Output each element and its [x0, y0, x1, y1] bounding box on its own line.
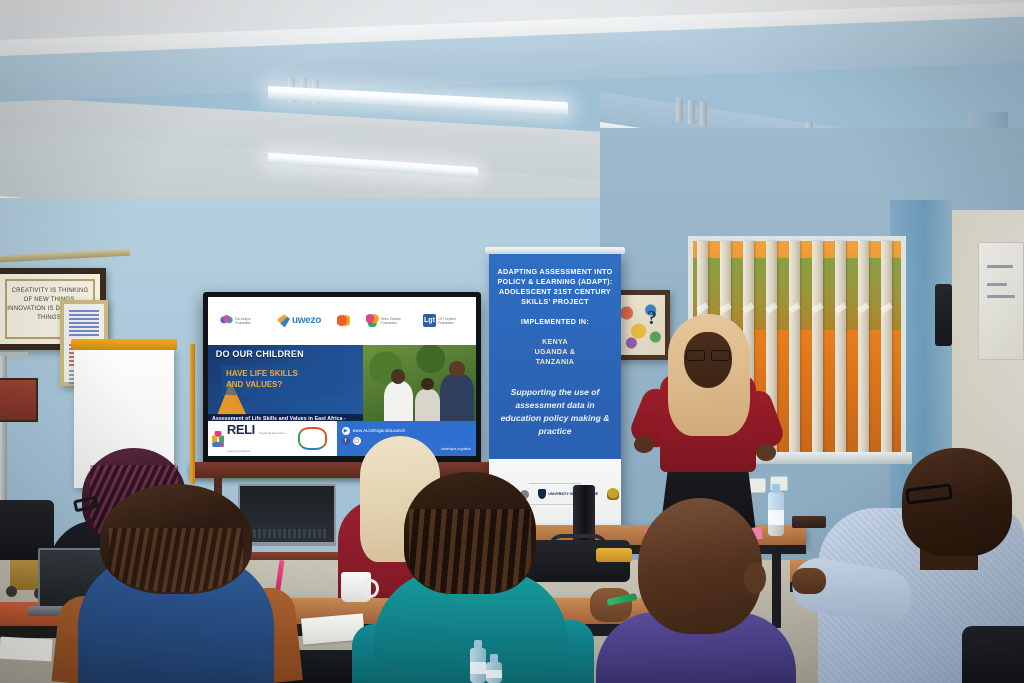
- flipchart-clamp: [71, 339, 177, 350]
- lgt-mark-icon: Lgt: [423, 314, 436, 327]
- social-handle-row: ▶ www.ALiVEUgandaLaunch: [342, 427, 476, 435]
- social-handle: www.ALiVEUgandaLaunch: [353, 428, 405, 433]
- red-board: [0, 378, 38, 422]
- uganda-coat-of-arms-logo: [607, 488, 619, 500]
- instagram-icon: ▢: [353, 437, 361, 445]
- reli-star-icon: [212, 431, 224, 447]
- mhlor-zambia-foundation-logo: Mhlor Zambia Foundation: [366, 314, 407, 327]
- participant-teal-hair: [404, 472, 536, 594]
- wall-notice-sign: [978, 242, 1024, 360]
- light-hanger: [676, 98, 683, 122]
- mastercard-foundation-logo: [337, 314, 350, 327]
- cart-wheel: [6, 586, 17, 597]
- room-scene: CREATIVITY IS THINKING OF NEW THINGS. IN…: [0, 0, 1024, 683]
- photo-person: [440, 374, 474, 421]
- zizi-afrique-foundation-logo: Zizi Afrique Foundation: [220, 314, 261, 327]
- water-bottle[interactable]: [486, 662, 502, 683]
- banner-countries: KENYA UGANDA & TANZANIA: [489, 338, 621, 368]
- slide-footer: RELI Regional Education Learning Initiat…: [208, 421, 476, 456]
- notice-block: [69, 310, 99, 336]
- window-blind-slat[interactable]: [858, 241, 869, 453]
- flipchart-leg: [190, 344, 195, 484]
- window-blind-slat[interactable]: [881, 241, 892, 453]
- water-bottle[interactable]: [470, 648, 486, 683]
- banner-divider: [529, 483, 582, 484]
- slide-logo-strip: Zizi Afrique Foundation uwezo Mhlor Zamb…: [208, 297, 476, 345]
- uwezo-uganda-logo: uwezo: [277, 314, 321, 327]
- notice-text-line: [987, 265, 1013, 268]
- window-blind-slat[interactable]: [789, 241, 800, 453]
- banner-headline: ADAPTING ASSESSMENT INTO POLICY & LEARNI…: [489, 253, 621, 307]
- participant-blue-hair: [100, 484, 252, 594]
- slide-headline-line3: AND VALUES?: [226, 379, 339, 390]
- window-blind-slat[interactable]: [835, 241, 846, 453]
- presenter-hand-left: [634, 436, 654, 453]
- window-blind-slat[interactable]: [812, 241, 823, 453]
- youtube-icon: ▶: [342, 427, 350, 435]
- notre-dame-shield-icon: [538, 489, 546, 499]
- light-hanger: [688, 100, 695, 124]
- banner-implemented-label: IMPLEMENTED IN:: [489, 319, 621, 326]
- notice-text-line: [987, 295, 1015, 298]
- paper-sheet[interactable]: [0, 637, 53, 662]
- mobile-phone[interactable]: [792, 516, 826, 528]
- reli-wordmark: RELI: [227, 422, 255, 437]
- uwezo-bird-icon: [277, 314, 290, 327]
- slide-hero-left: DO OUR CHILDREN HAVE LIFE SKILLS AND VAL…: [208, 345, 363, 421]
- slide-headline-line2: HAVE LIFE SKILLS: [226, 368, 339, 379]
- bag-accent: [596, 548, 632, 562]
- reli-logo: RELI Regional Education Learning Initiat…: [208, 421, 288, 456]
- presenter-glasses: [686, 350, 730, 359]
- slide-website: zizafrique.org/alive: [441, 447, 476, 451]
- zambia-flower-icon: [366, 314, 379, 327]
- table-leg: [772, 554, 781, 628]
- partner-swirl-logo: [288, 425, 336, 453]
- mastercard-circles-icon: [337, 314, 350, 327]
- slide-content: Zizi Afrique Foundation uwezo Mhlor Zamb…: [208, 297, 476, 456]
- participant-light-blue-hand: [792, 568, 826, 594]
- participant-purple-ear: [744, 562, 766, 594]
- fluorescent-tube-light: [268, 86, 568, 115]
- coffee-mug[interactable]: [341, 572, 371, 602]
- slide-headline-box: HAVE LIFE SKILLS AND VALUES?: [222, 365, 343, 396]
- chair[interactable]: [962, 626, 1024, 683]
- presenter-hand-right: [756, 444, 776, 461]
- zizi-tree-icon: [220, 314, 233, 327]
- photo-person: [384, 381, 413, 421]
- light-hanger: [700, 102, 707, 126]
- water-bottle[interactable]: [768, 492, 784, 536]
- notice-text-line: [987, 283, 1007, 286]
- slide-hero: DO OUR CHILDREN HAVE LIFE SKILLS AND VAL…: [208, 345, 476, 421]
- banner-top-rail: [485, 247, 625, 254]
- photo-person: [415, 389, 440, 421]
- wall-mounted-device: [935, 284, 952, 346]
- television-screen: Zizi Afrique Foundation uwezo Mhlor Zamb…: [203, 292, 481, 464]
- lgt-venture-philanthropy-logo: Lgt LGT Venture Foundation: [423, 314, 464, 327]
- banner-tagline: Supporting the use of assessment data in…: [489, 386, 621, 438]
- participant-purple-head: [638, 498, 762, 634]
- slide-headline-line1: DO OUR CHILDREN: [216, 349, 304, 359]
- laptop-under-tv: [238, 484, 336, 546]
- slide-photo: [363, 345, 476, 421]
- facebook-icon: f: [342, 437, 350, 445]
